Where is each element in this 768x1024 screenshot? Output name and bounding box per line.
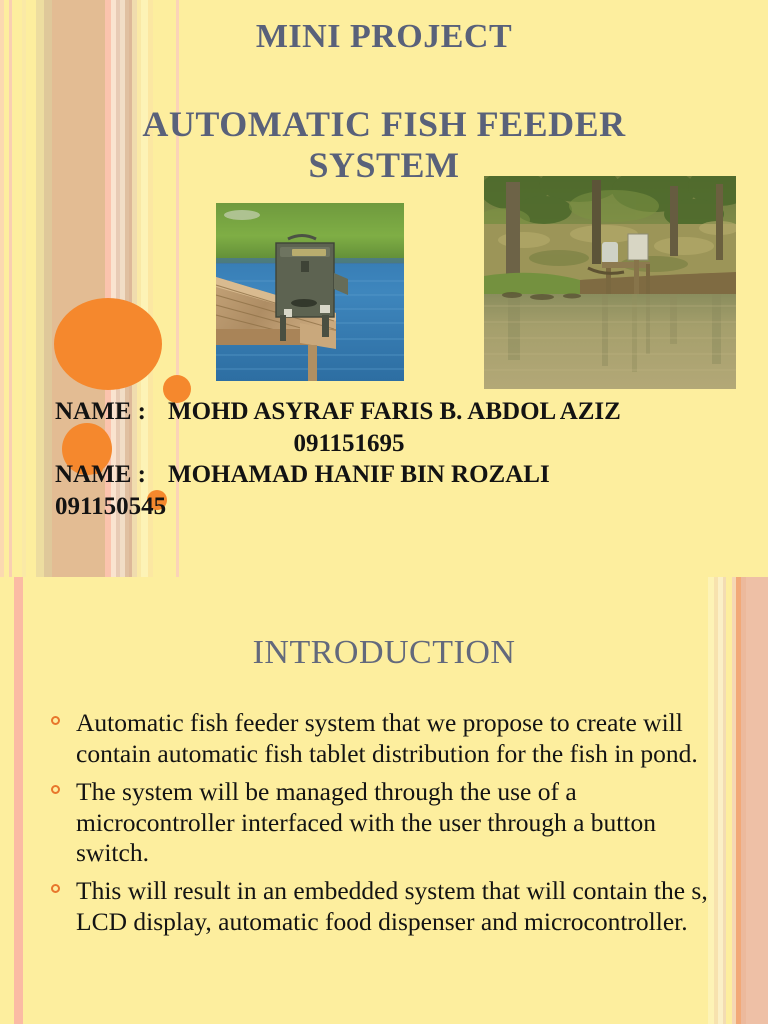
introduction-slide: INTRODUCTION Automatic fish feeder syste… — [0, 577, 768, 1024]
author-label: NAME : — [55, 459, 146, 491]
section-heading: INTRODUCTION — [0, 634, 768, 672]
list-item: Automatic fish feeder system that we pro… — [48, 708, 708, 770]
fish-feeder-on-dock-photo — [216, 203, 404, 381]
slide-title-main: MINI PROJECT — [0, 18, 768, 56]
fish-feeder-photo-graphic — [216, 203, 404, 381]
author-name: MOHAMAD HANIF BIN ROZALI — [146, 459, 550, 491]
author-label: NAME : — [55, 396, 146, 428]
author-id: 091150545 — [0, 491, 768, 523]
author-row: NAME :MOHD ASYRAF FARIS B. ABDOL AZIZ — [0, 396, 768, 428]
list-item-text: This will result in an embedded system t… — [76, 876, 708, 936]
authors-block: NAME :MOHD ASYRAF FARIS B. ABDOL AZIZ 09… — [0, 396, 768, 522]
author-row: NAME :MOHAMAD HANIF BIN ROZALI — [0, 459, 768, 491]
title-block: MINI PROJECT AUTOMATIC FISH FEEDER SYSTE… — [0, 0, 768, 187]
bullet-ring-icon — [51, 716, 60, 725]
bullet-list: Automatic fish feeder system that we pro… — [48, 708, 708, 945]
author-name: MOHD ASYRAF FARIS B. ABDOL AZIZ — [146, 396, 621, 428]
author-id: 091151695 — [0, 428, 768, 460]
list-item: This will result in an embedded system t… — [48, 876, 708, 938]
list-item-text: Automatic fish feeder system that we pro… — [76, 708, 698, 768]
pond-with-feeder-photo — [484, 176, 736, 389]
slide-title-subtitle: AUTOMATIC FISH FEEDER SYSTEM — [0, 104, 768, 187]
list-item-text: The system will be managed through the u… — [76, 777, 656, 868]
list-item: The system will be managed through the u… — [48, 777, 708, 870]
slides-page: MINI PROJECT AUTOMATIC FISH FEEDER SYSTE… — [0, 0, 768, 1024]
bullet-ring-icon — [51, 884, 60, 893]
pond-photo-graphic — [484, 176, 736, 389]
bullet-ring-icon — [51, 785, 60, 794]
title-slide: MINI PROJECT AUTOMATIC FISH FEEDER SYSTE… — [0, 0, 768, 577]
decorative-circle-large — [54, 298, 162, 390]
